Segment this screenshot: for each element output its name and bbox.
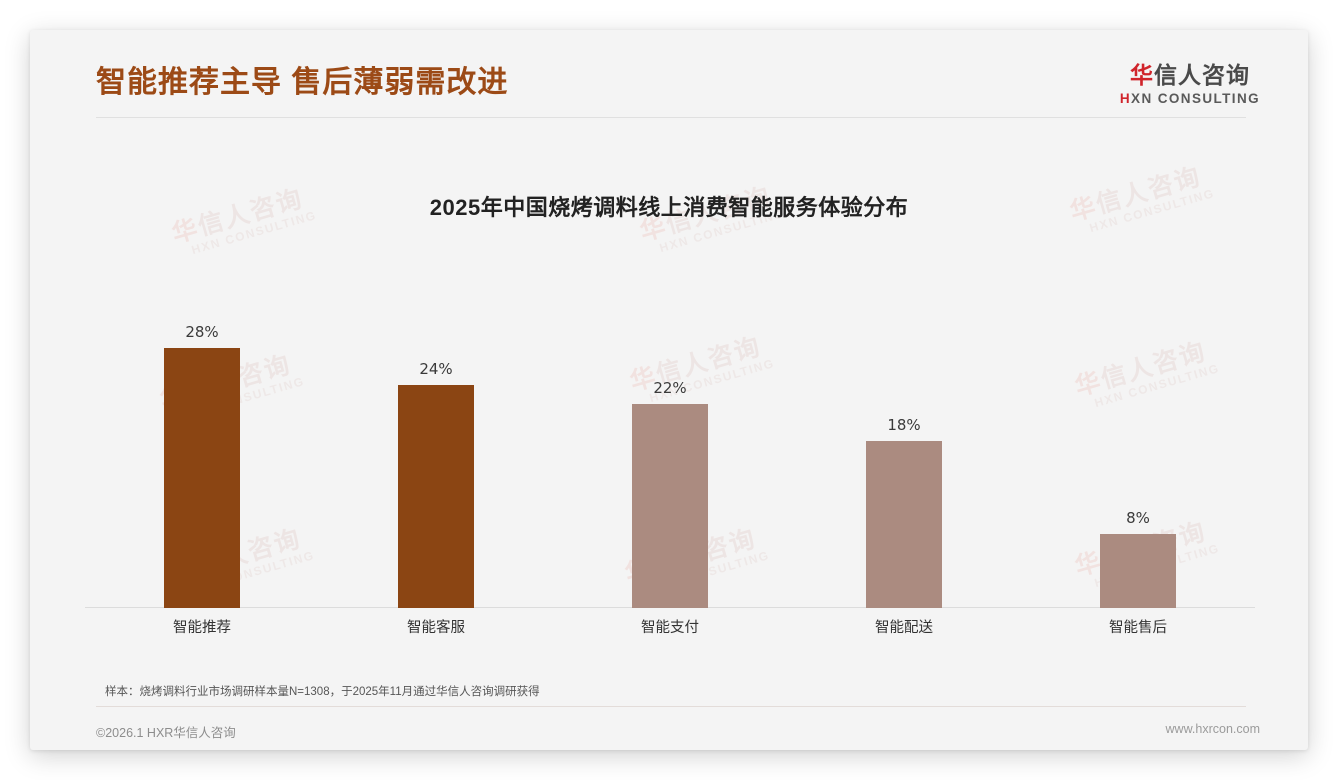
slide-header: 智能推荐主导 售后薄弱需改进 华信人咨询 HXN CONSULTING bbox=[30, 30, 1308, 120]
bar-rect[interactable] bbox=[398, 385, 474, 608]
x-axis-category-label: 智能售后 bbox=[1109, 616, 1167, 637]
bar-rect[interactable] bbox=[164, 348, 240, 608]
bar-group: 28% 智能推荐 bbox=[85, 245, 319, 645]
page-root: 华信人咨询 HXN CONSULTING 华信人咨询 HXN CONSULTIN… bbox=[0, 0, 1340, 780]
bar-rect[interactable] bbox=[1100, 534, 1176, 608]
x-axis-category-label: 智能支付 bbox=[641, 616, 699, 637]
logo-chinese-text: 华信人咨询 bbox=[1120, 62, 1260, 88]
company-logo: 华信人咨询 HXN CONSULTING bbox=[1120, 62, 1260, 106]
logo-h-char: H bbox=[1120, 91, 1131, 106]
bar-value-label: 18% bbox=[887, 416, 920, 434]
logo-english-text: HXN CONSULTING bbox=[1120, 91, 1260, 106]
bar-group: 8% 智能售后 bbox=[1021, 245, 1255, 645]
page-title: 智能推荐主导 售后薄弱需改进 bbox=[96, 57, 508, 101]
website-text[interactable]: www.hxrcon.com bbox=[1166, 722, 1260, 736]
bar-column[interactable]: 22% bbox=[632, 404, 708, 608]
bar-group: 24% 智能客服 bbox=[319, 245, 553, 645]
copyright-text: ©2026.1 HXR华信人咨询 bbox=[96, 722, 236, 741]
footnote-divider bbox=[96, 706, 1246, 707]
bar-value-label: 28% bbox=[185, 323, 218, 341]
slide: 华信人咨询 HXN CONSULTING 华信人咨询 HXN CONSULTIN… bbox=[30, 30, 1308, 750]
slide-footer: ©2026.1 HXR华信人咨询 www.hxrcon.com bbox=[30, 710, 1308, 750]
bar-column[interactable]: 18% bbox=[866, 441, 942, 608]
bar-column[interactable]: 24% bbox=[398, 385, 474, 608]
logo-hua-char: 华 bbox=[1130, 62, 1154, 88]
bar-rect[interactable] bbox=[632, 404, 708, 608]
bar-group: 22% 智能支付 bbox=[553, 245, 787, 645]
x-axis-category-label: 智能推荐 bbox=[173, 616, 231, 637]
chart-container: 2025年中国烧烤调料线上消费智能服务体验分布 28% 智能推荐 24% 智能客… bbox=[30, 120, 1308, 660]
sample-footnote: 样本：烧烤调料行业市场调研样本量N=1308，于2025年11月通过华信人咨询调… bbox=[105, 683, 540, 699]
x-axis-category-label: 智能客服 bbox=[407, 616, 465, 637]
chart-title: 2025年中国烧烤调料线上消费智能服务体验分布 bbox=[30, 190, 1308, 222]
bar-column[interactable]: 28% bbox=[164, 348, 240, 608]
header-divider bbox=[96, 117, 1246, 118]
bar-value-label: 22% bbox=[653, 379, 686, 397]
bar-value-label: 24% bbox=[419, 360, 452, 378]
bar-chart-plot: 28% 智能推荐 24% 智能客服 22% bbox=[85, 245, 1255, 645]
logo-cn-rest: 信人咨询 bbox=[1154, 62, 1250, 88]
bar-value-label: 8% bbox=[1126, 509, 1150, 527]
x-axis-category-label: 智能配送 bbox=[875, 616, 933, 637]
logo-en-rest: XN CONSULTING bbox=[1131, 91, 1260, 106]
bar-group: 18% 智能配送 bbox=[787, 245, 1021, 645]
bar-rect[interactable] bbox=[866, 441, 942, 608]
bar-column[interactable]: 8% bbox=[1100, 534, 1176, 608]
